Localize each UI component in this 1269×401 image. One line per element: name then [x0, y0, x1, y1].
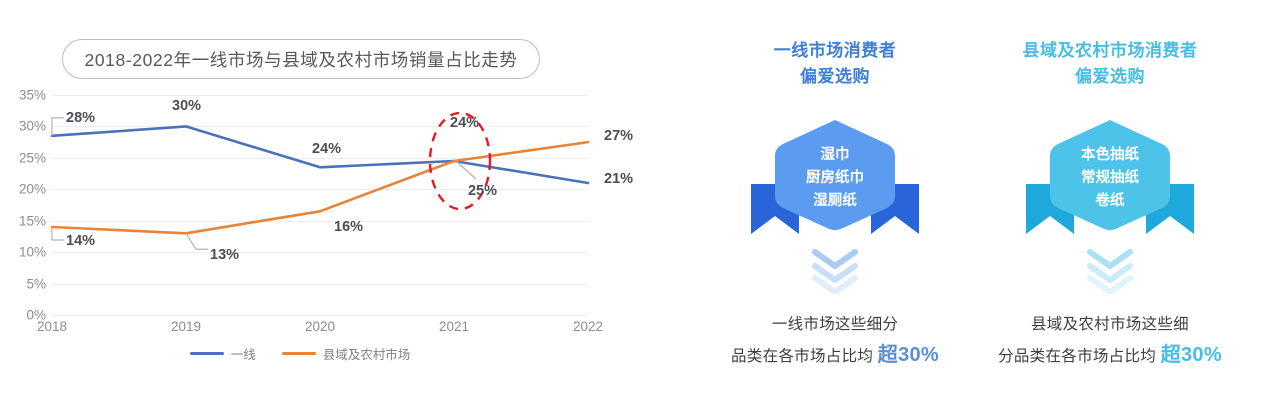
badge-item: 常规抽纸: [1022, 167, 1198, 190]
x-axis-tick: 2019: [171, 319, 201, 334]
column-footnote: 县域及农村市场这些细 分品类在各市场占比均 超30%: [955, 310, 1265, 372]
column-footnote-line2: 品类在各市场占比均 超30%: [690, 340, 980, 372]
badge-item: 湿巾: [747, 144, 923, 167]
badge-hexagon: 湿巾 厨房纸巾 湿厕纸: [747, 118, 923, 234]
y-axis-labels: 0%5%10%15%20%25%30%35%: [0, 95, 46, 315]
legend-item[interactable]: 一线: [190, 344, 256, 363]
badge-item: 湿厕纸: [747, 190, 923, 213]
chart-panel: 2018-2022年一线市场与县域及农村市场销量占比走势 0%5%10%15%2…: [0, 0, 640, 401]
chevron-down-icon: [1080, 248, 1140, 294]
label-leader-line: [52, 118, 64, 136]
badge-item: 卷纸: [1022, 190, 1198, 213]
chart-legend: 一线县域及农村市场: [0, 344, 600, 363]
column-heading-line2: 偏爱选购: [690, 64, 980, 90]
legend-label: 县域及农村市场: [323, 344, 411, 363]
column-footnote-line1: 县域及农村市场这些细: [955, 310, 1265, 340]
column-footnote-highlight: 超30%: [1161, 344, 1222, 366]
x-axis-tick: 2022: [573, 319, 603, 334]
legend-label: 一线: [231, 344, 256, 363]
chart-title-pill: 2018-2022年一线市场与县域及农村市场销量占比走势: [62, 39, 540, 79]
chart-series-lines: [52, 95, 588, 315]
chart-plot-area: 0%5%10%15%20%25%30%35% 28%30%24%24%21%14…: [0, 95, 600, 330]
segment-column-county-rural: 县域及农村市场消费者 偏爱选购 本色抽纸 常规抽纸 卷纸 县域及农村市: [955, 0, 1265, 401]
y-axis-tick: 35%: [0, 88, 46, 103]
segment-column-tier1: 一线市场消费者 偏爱选购 湿巾 厨房纸巾 湿厕纸 一线市场这些细分: [690, 0, 980, 401]
column-heading: 一线市场消费者 偏爱选购: [690, 38, 980, 90]
badge-item: 厨房纸巾: [747, 167, 923, 190]
badge-items: 湿巾 厨房纸巾 湿厕纸: [747, 144, 923, 213]
slide-root: 2018-2022年一线市场与县域及农村市场销量占比走势 0%5%10%15%2…: [0, 0, 1269, 401]
x-axis-tick: 2018: [37, 319, 67, 334]
data-point-label: 21%: [604, 171, 633, 187]
column-footnote-line1: 一线市场这些细分: [690, 310, 980, 340]
label-leader-line: [52, 227, 64, 240]
y-axis-tick: 10%: [0, 245, 46, 260]
chart-title: 2018-2022年一线市场与县域及农村市场销量占比走势: [85, 47, 518, 72]
legend-swatch: [190, 352, 224, 355]
column-footnote-text: 分品类在各市场占比均: [998, 348, 1156, 365]
column-footnote-highlight: 超30%: [878, 344, 939, 366]
column-heading-line1: 一线市场消费者: [690, 38, 980, 64]
x-axis-tick: 2021: [439, 319, 469, 334]
label-leader-line: [186, 233, 208, 249]
gridline: [52, 315, 588, 316]
y-axis-tick: 20%: [0, 182, 46, 197]
series-line: [52, 142, 588, 233]
column-heading: 县域及农村市场消费者 偏爱选购: [955, 38, 1265, 90]
legend-swatch: [282, 352, 316, 355]
x-axis-tick: 2020: [305, 319, 335, 334]
y-axis-tick: 25%: [0, 150, 46, 165]
column-footnote: 一线市场这些细分 品类在各市场占比均 超30%: [690, 310, 980, 372]
data-point-label: 27%: [604, 128, 633, 144]
y-axis-tick: 5%: [0, 276, 46, 291]
column-heading-line2: 偏爱选购: [955, 64, 1265, 90]
y-axis-tick: 15%: [0, 213, 46, 228]
chevron-down-icon: [805, 248, 865, 294]
column-footnote-line2: 分品类在各市场占比均 超30%: [955, 340, 1265, 372]
legend-item[interactable]: 县域及农村市场: [282, 344, 411, 363]
badge-items: 本色抽纸 常规抽纸 卷纸: [1022, 144, 1198, 213]
column-heading-line1: 县域及农村市场消费者: [955, 38, 1265, 64]
badge-hexagon: 本色抽纸 常规抽纸 卷纸: [1022, 118, 1198, 234]
x-axis-labels: 20182019202020212022: [52, 319, 588, 341]
y-axis-tick: 30%: [0, 119, 46, 134]
badge-item: 本色抽纸: [1022, 144, 1198, 167]
column-footnote-text: 品类在各市场占比均: [731, 348, 873, 365]
